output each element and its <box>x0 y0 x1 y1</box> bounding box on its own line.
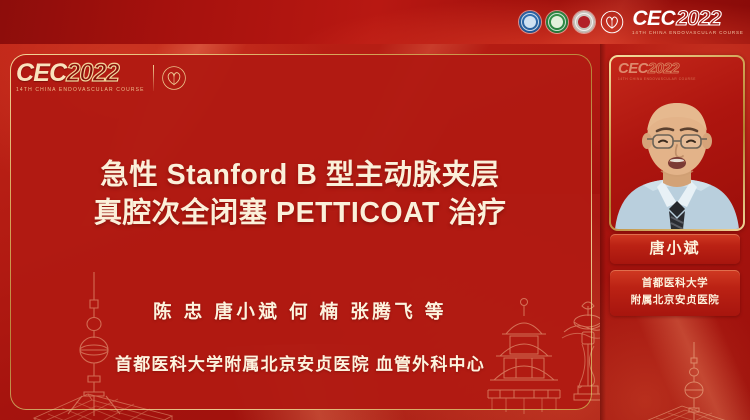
header-brand-year: 2022 <box>676 7 721 30</box>
video-watermark-year: 2022 <box>648 60 679 77</box>
video-watermark-subtitle: 14TH CHINA ENDOVASCULAR COURSE <box>618 77 696 81</box>
speaker-video-frame[interactable]: CEC2022 14TH CHINA ENDOVASCULAR COURSE <box>609 55 745 231</box>
speaker-portrait <box>611 97 743 229</box>
cec-butterfly-emblem-icon <box>161 65 187 91</box>
institution-logo-red-icon <box>573 11 595 33</box>
speaker-video-feed[interactable]: CEC2022 14TH CHINA ENDOVASCULAR COURSE <box>611 57 743 229</box>
slide-affiliation: 首都医科大学附属北京安贞医院 血管外科中心 <box>0 350 600 375</box>
title-line-2: 真腔次全闭塞 PETTICOAT 治疗 <box>0 194 600 232</box>
speaker-name-badge: 唐小斌 <box>610 234 740 264</box>
slide-authors: 陈 忠 唐小斌 何 楠 张腾飞 等 <box>0 298 600 324</box>
header-bar: CEC2022 14TH CHINA ENDOVASCULAR COURSE <box>0 0 750 44</box>
presentation-screen: CEC2022 14TH CHINA ENDOVASCULAR COURSE C… <box>0 0 750 420</box>
video-cec-watermark: CEC2022 14TH CHINA ENDOVASCULAR COURSE <box>618 62 696 81</box>
slide-brand-year: 2022 <box>66 59 118 87</box>
panel-edge-shadow <box>600 44 606 420</box>
slide-area: CEC2022 14TH CHINA ENDOVASCULAR COURSE <box>0 44 600 420</box>
speaker-org-line-1: 首都医科大学 <box>610 275 740 292</box>
header-cec-wordmark: CEC2022 14TH CHINA ENDOVASCULAR COURSE <box>632 9 742 35</box>
oriental-pearl-tower-illustration <box>22 266 190 420</box>
slide-brand-main: CEC <box>16 59 66 87</box>
slide-brand-subtitle: 14TH CHINA ENDOVASCULAR COURSE <box>16 87 145 93</box>
oriental-pearl-tower-illustration <box>620 340 732 420</box>
institution-logo-blue-icon <box>519 11 541 33</box>
cec-butterfly-emblem-icon <box>600 10 624 34</box>
header-logo-group: CEC2022 14TH CHINA ENDOVASCULAR COURSE <box>519 6 742 38</box>
slide-title: 急性 Stanford B 型主动脉夹层 真腔次全闭塞 PETTICOAT 治疗 <box>0 156 600 232</box>
speaker-organization-badge: 首都医科大学 附属北京安贞医院 <box>610 270 740 316</box>
header-brand-subtitle: 14TH CHINA ENDOVASCULAR COURSE <box>632 30 744 35</box>
title-line-1: 急性 Stanford B 型主动脉夹层 <box>0 156 600 194</box>
institution-logo-green-icon <box>546 11 568 33</box>
speaker-panel: CEC2022 14TH CHINA ENDOVASCULAR COURSE <box>600 44 750 420</box>
logo-divider <box>153 65 154 91</box>
slide-cec-logo: CEC2022 14TH CHINA ENDOVASCULAR COURSE <box>16 62 187 93</box>
speaker-name: 唐小斌 <box>649 240 700 257</box>
video-watermark-main: CEC <box>618 60 648 77</box>
speaker-org-line-2: 附属北京安贞医院 <box>610 292 740 309</box>
header-brand-main: CEC <box>632 7 675 30</box>
